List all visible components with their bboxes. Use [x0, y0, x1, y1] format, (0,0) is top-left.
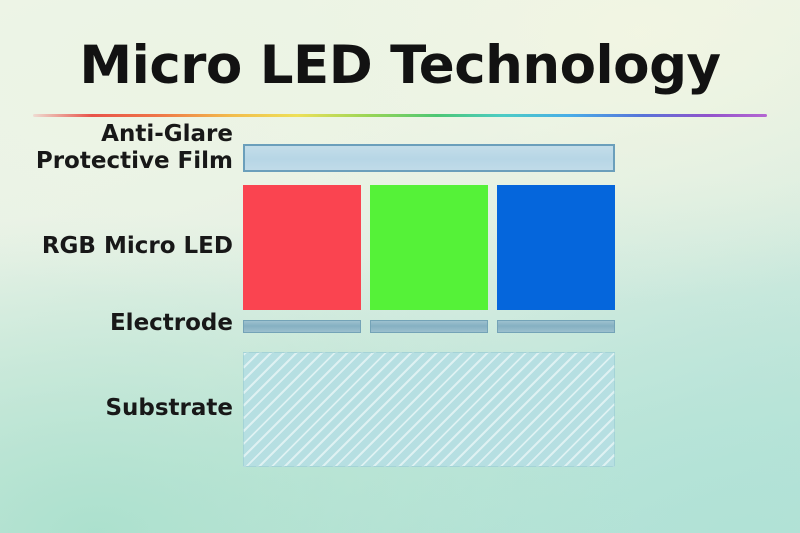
green-led-cell — [370, 185, 488, 310]
layer-label-line2: Protective Film — [20, 148, 233, 175]
rainbow-divider — [33, 114, 767, 117]
layer-label-line1: RGB Micro LED — [20, 233, 233, 260]
layer-label-line1: Anti-Glare — [20, 121, 233, 148]
layer-label-rgb-micro-led: RGB Micro LED — [20, 233, 233, 260]
electrode-bar — [370, 320, 488, 333]
layer-label-line1: Substrate — [20, 395, 233, 422]
red-led-cell — [243, 185, 361, 310]
layer-label-line1: Electrode — [20, 310, 233, 337]
layer-label-substrate: Substrate — [20, 395, 233, 422]
layer-row-substrate: Substrate — [0, 352, 800, 467]
layer-row-anti-glare-film: Anti-Glare Protective Film — [0, 130, 800, 172]
layer-label-anti-glare-film: Anti-Glare Protective Film — [20, 121, 233, 175]
layer-label-electrode: Electrode — [20, 310, 233, 337]
slide-canvas: Micro LED Technology Anti-Glare Protecti… — [0, 0, 800, 533]
electrode-bar — [243, 320, 361, 333]
layer-graphic-substrate — [243, 352, 615, 467]
layer-row-electrode: Electrode — [0, 318, 800, 340]
layer-row-rgb-micro-led: RGB Micro LED — [0, 185, 800, 310]
layer-graphic-rgb-micro-led — [243, 185, 615, 310]
layer-graphic-electrode — [243, 320, 615, 333]
anti-glare-film-bar — [243, 144, 615, 172]
electrode-strip — [243, 320, 615, 333]
blue-led-cell — [497, 185, 615, 310]
layer-graphic-anti-glare-film — [243, 144, 615, 172]
rgb-led-strip — [243, 185, 615, 310]
page-title: Micro LED Technology — [0, 38, 800, 94]
title-block: Micro LED Technology — [0, 38, 800, 94]
micro-led-layer-stack: Anti-Glare Protective Film RGB Micro LED — [0, 130, 800, 480]
electrode-bar — [497, 320, 615, 333]
substrate-block — [243, 352, 615, 467]
